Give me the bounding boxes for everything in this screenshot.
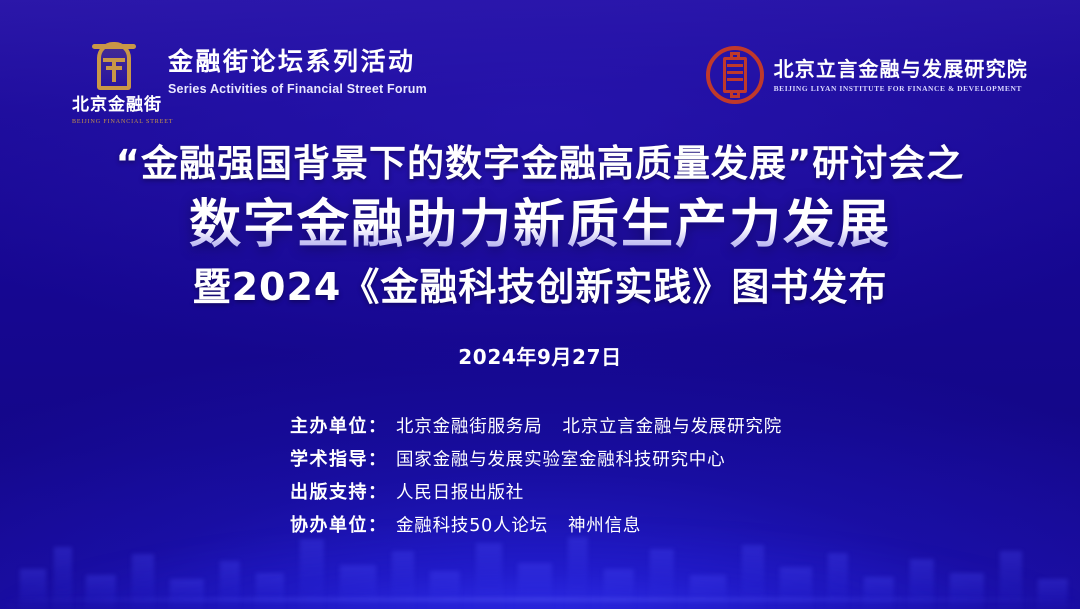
liyan-institute-logo-group: 北京立言金融与发展研究院 BEIJING LIYAN INSTITUTE FOR… <box>706 46 1028 104</box>
building-silhouette <box>864 577 894 609</box>
credit-row: 协办单位 ： 金融科技50人论坛神州信息 <box>260 511 820 537</box>
bfs-org-name-en: BEIJING FINANCIAL STREET <box>72 119 156 125</box>
building-silhouette <box>828 553 848 609</box>
building-silhouette <box>1038 579 1068 609</box>
credit-label: 学术指导 <box>260 445 368 471</box>
liyan-seal-icon <box>706 46 764 104</box>
building-silhouette <box>300 539 324 609</box>
building-silhouette <box>604 569 634 609</box>
credit-label: 出版支持 <box>260 478 368 504</box>
poster-header: 北京金融街 BEIJING FINANCIAL STREET 金融街论坛系列活动… <box>0 0 1080 132</box>
forum-title-group: 金融街论坛系列活动 Series Activities of Financial… <box>168 42 427 96</box>
credit-value: 国家金融与发展实验室金融科技研究中心 <box>396 446 725 471</box>
building-silhouette <box>392 551 414 609</box>
credit-label: 主办单位 <box>260 412 368 438</box>
credit-value-part: 神州信息 <box>568 516 641 536</box>
building-silhouette <box>430 571 460 609</box>
building-silhouette <box>54 547 72 609</box>
bfs-org-name-cn: 北京金融街 <box>72 96 156 116</box>
liyan-org-name-en: BEIJING LIYAN INSTITUTE FOR FINANCE & DE… <box>774 84 1028 93</box>
financial-street-logo-group: 北京金融街 BEIJING FINANCIAL STREET 金融街论坛系列活动… <box>72 42 427 125</box>
credit-value-part: 北京金融街服务局 <box>396 417 542 437</box>
credit-value: 人民日报出版社 <box>396 479 524 504</box>
page-title-line3: 暨2024《金融科技创新实践》图书发布 <box>0 265 1080 311</box>
building-silhouette <box>20 569 46 609</box>
building-silhouette <box>170 579 204 609</box>
forum-title-en: Series Activities of Financial Street Fo… <box>168 82 427 96</box>
credit-colon: ： <box>368 478 396 504</box>
building-silhouette <box>132 554 154 609</box>
credit-row: 主办单位 ： 北京金融街服务局北京立言金融与发展研究院 <box>260 412 820 438</box>
forum-title-cn: 金融街论坛系列活动 <box>168 48 427 77</box>
building-silhouette <box>518 563 552 609</box>
event-date: 2024年9月27日 <box>0 341 1080 370</box>
credit-colon: ： <box>368 412 396 438</box>
building-silhouette <box>950 573 984 609</box>
building-silhouette <box>86 575 116 609</box>
building-silhouette <box>340 565 376 609</box>
building-silhouette <box>256 573 284 609</box>
credit-label: 协办单位 <box>260 511 368 537</box>
credit-value-part: 金融科技50人论坛 <box>396 516 548 536</box>
page-title-line2: 数字金融助力新质生产力发展 <box>0 195 1080 255</box>
financial-street-emblem-icon <box>91 42 137 92</box>
credit-row: 出版支持 ： 人民日报出版社 <box>260 478 820 504</box>
building-silhouette <box>220 561 240 609</box>
building-silhouette <box>568 537 588 609</box>
building-silhouette <box>1000 551 1022 609</box>
liyan-name-group: 北京立言金融与发展研究院 BEIJING LIYAN INSTITUTE FOR… <box>774 57 1028 93</box>
conference-poster: 北京金融街 BEIJING FINANCIAL STREET 金融街论坛系列活动… <box>0 0 1080 609</box>
credit-value-part: 北京立言金融与发展研究院 <box>562 417 782 437</box>
credit-row: 学术指导 ： 国家金融与发展实验室金融科技研究中心 <box>260 445 820 471</box>
credit-colon: ： <box>368 445 396 471</box>
page-title-line1: “金融强国背景下的数字金融高质量发展”研讨会之 <box>0 142 1080 186</box>
credit-colon: ： <box>368 511 396 537</box>
credit-value: 金融科技50人论坛神州信息 <box>396 512 641 537</box>
building-silhouette <box>690 575 726 609</box>
building-silhouette <box>742 545 764 609</box>
beijing-financial-street-logo: 北京金融街 BEIJING FINANCIAL STREET <box>72 42 156 125</box>
building-silhouette <box>650 549 674 609</box>
liyan-org-name-cn: 北京立言金融与发展研究院 <box>774 57 1028 81</box>
credits-block: 主办单位 ： 北京金融街服务局北京立言金融与发展研究院 学术指导 ： 国家金融与… <box>0 412 1080 544</box>
building-silhouette <box>910 559 934 609</box>
building-silhouette <box>780 567 812 609</box>
building-silhouette <box>476 543 502 609</box>
horizon-line <box>0 598 1080 601</box>
credit-value: 北京金融街服务局北京立言金融与发展研究院 <box>396 413 782 438</box>
title-block: “金融强国背景下的数字金融高质量发展”研讨会之 数字金融助力新质生产力发展 暨2… <box>0 142 1080 370</box>
